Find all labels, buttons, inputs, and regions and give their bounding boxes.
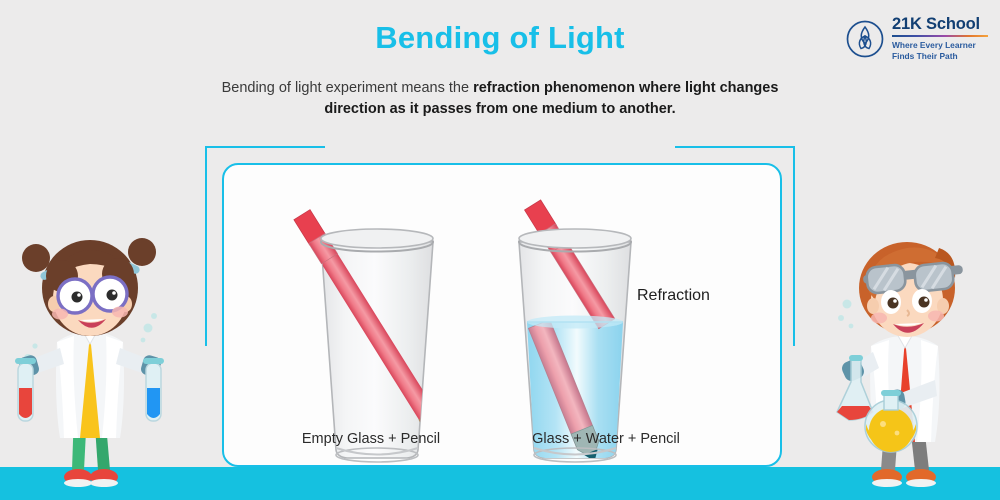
logo-name: 21K School	[892, 16, 988, 33]
logo-gradient-rule	[892, 35, 988, 38]
page-subtitle: Bending of light experiment means the re…	[195, 78, 805, 120]
subtitle-plain-text: Bending of light experiment means the	[222, 80, 473, 96]
bracket-top-left	[205, 146, 325, 148]
brand-logo[interactable]: 21K School Where Every Learner Finds The…	[845, 16, 988, 61]
bracket-top-right	[675, 146, 795, 148]
bracket-right	[793, 146, 795, 346]
lotus-circle-icon	[845, 19, 885, 59]
girl-scientist-icon	[2, 230, 177, 500]
logo-text-block: 21K School Where Every Learner Finds The…	[892, 16, 988, 61]
test-tube-blue-icon	[143, 358, 164, 421]
illustration-canvas: Refraction Empty Glass + Pencil Glass + …	[224, 165, 780, 465]
illustration-card: Refraction Empty Glass + Pencil Glass + …	[222, 163, 782, 467]
test-tube-red-icon	[15, 358, 36, 421]
boy-scientist-icon	[823, 230, 998, 500]
water-glass-with-bent-pencil-icon	[519, 200, 631, 465]
experiment-diagram	[224, 165, 780, 465]
logo-tagline-line2: Finds Their Path	[892, 51, 988, 62]
infographic-stage: Bending of Light Bending of light experi…	[0, 0, 1000, 500]
refraction-annotation: Refraction	[637, 287, 710, 305]
logo-tagline-line1: Where Every Learner	[892, 40, 988, 51]
empty-glass-with-pencil-icon	[294, 210, 451, 462]
bracket-left	[205, 146, 207, 346]
caption-empty-glass: Empty Glass + Pencil	[256, 431, 486, 447]
caption-water-glass: Glass + Water + Pencil	[476, 431, 736, 447]
